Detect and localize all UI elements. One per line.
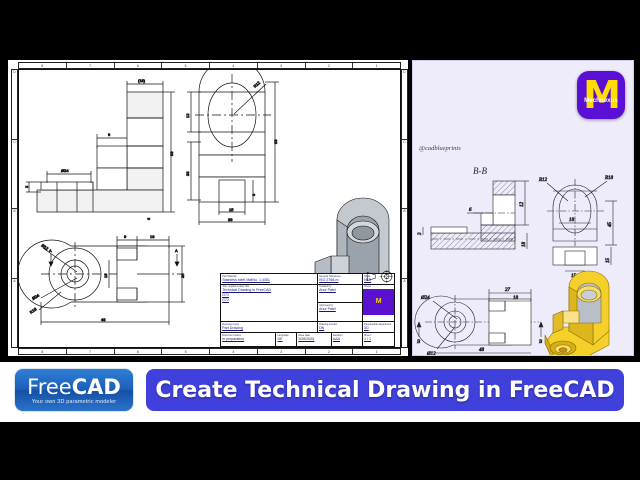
bp-dim-d12: Ø12 xyxy=(426,352,436,356)
tb-value: DN xyxy=(319,326,361,331)
ruler-cell: C xyxy=(12,140,17,210)
section-arrow-a-right: A xyxy=(175,248,178,253)
tb-value-line3: G72 xyxy=(222,298,316,303)
dim-15: 15 xyxy=(229,207,234,212)
sheet-ruler-left: D C B A xyxy=(11,69,18,348)
section-arrow-a-left: A xyxy=(49,248,52,253)
sheet-ruler-right: D C B A xyxy=(401,69,408,348)
ruler-cell: 5 xyxy=(162,349,210,354)
tb-value: 3D xyxy=(364,326,393,331)
dim-18-vert: 18 xyxy=(103,273,108,278)
ruler-cell: A xyxy=(402,279,407,348)
bp-dim-45: 45 xyxy=(608,222,613,228)
tb-created-by: Created by Anur Patel xyxy=(318,285,362,303)
blueprint-views: 6 12 3 18 xyxy=(413,61,634,356)
ruler-cell: C xyxy=(402,140,407,210)
tb-people: Created by Anur Patel Approved by Anur P… xyxy=(318,285,363,321)
dim-3: 3 xyxy=(24,185,29,188)
tb-row: Document status in preparation Language … xyxy=(221,333,394,346)
tb-doc-title: Title, supplementary title Technical Dra… xyxy=(221,285,318,321)
dim-63-left: 63 xyxy=(169,151,174,156)
ruler-cell: 4 xyxy=(210,63,258,68)
dim-9-top: 9 xyxy=(124,234,127,239)
freecad-tagline: Your own 3D parametric modeler xyxy=(32,399,117,405)
bp-dim-16: 18 xyxy=(522,242,527,248)
bp-view-front: R12 R18 18 45 15 xyxy=(538,176,617,279)
tb-general-tolerances: General Tolerances ISO 2768-m xyxy=(318,274,363,284)
bp-dim-15: 15 xyxy=(606,258,611,264)
ruler-cell: D xyxy=(402,70,407,140)
bp-dim-3: 3 xyxy=(418,232,423,235)
tb-value: AAA xyxy=(333,337,361,342)
dim-12-front: 12 xyxy=(185,113,190,118)
dim-r18: R18 xyxy=(29,306,39,315)
dim-36: 36 xyxy=(228,217,233,222)
sheet-ruler-bottom: 8 7 6 5 4 3 2 1 xyxy=(18,348,401,355)
freecad-word-cad: CAD xyxy=(72,375,121,399)
projection-symbol-icon xyxy=(366,270,396,283)
ruler-cell: B xyxy=(402,209,407,279)
tb-value: Anur Patel xyxy=(319,288,361,293)
bp-section-arrow-b-left: B xyxy=(417,340,420,345)
company-logo-small: M xyxy=(363,289,394,315)
freecad-wordmark: FreeCAD xyxy=(27,376,121,398)
tb-drawing-number: Drawing number DN xyxy=(318,322,363,332)
ruler-cell: 1 xyxy=(353,63,400,68)
view-top: Ø12 Ø24 R18 A A xyxy=(19,234,185,325)
bp-section-arrow-b-right: B xyxy=(539,340,542,345)
ruler-cell: D xyxy=(12,70,17,140)
view-front: R12 12 33 63 xyxy=(185,70,279,225)
bp-dim-r18: R18 xyxy=(604,176,614,181)
tb-value: Part Drawing xyxy=(222,326,316,331)
ruler-cell: B xyxy=(12,209,17,279)
bp-dim-r12: R12 xyxy=(538,178,548,183)
dim-63-front: 63 xyxy=(273,139,278,144)
title-block: Part Material Stainless steel MatNo. 1.4… xyxy=(220,273,395,347)
tb-document-type: Document type Part Drawing xyxy=(221,322,318,332)
ruler-cell: 2 xyxy=(306,63,354,68)
dim-36-top: 36 xyxy=(180,273,185,278)
bp-dim-12: 12 xyxy=(520,202,525,208)
ruler-cell: 6 xyxy=(115,63,163,68)
bp-dim-48: 48 xyxy=(479,348,485,353)
technical-drawing-sheet: 8 7 6 5 4 3 2 1 8 7 6 5 4 3 2 1 D C B A … xyxy=(8,60,408,356)
dim-48: 48 xyxy=(101,317,106,322)
dim-r12: R12 xyxy=(252,80,261,89)
tb-issue-date: Issue date 3/26/2025 xyxy=(297,333,332,346)
dim-33: 33 xyxy=(185,171,190,176)
tb-row: Document type Part Drawing Drawing numbe… xyxy=(221,322,394,333)
tb-value: in preparation xyxy=(222,337,274,342)
dim-6-top: 6 xyxy=(146,217,151,220)
ruler-cell: 8 xyxy=(19,63,67,68)
ruler-cell: 8 xyxy=(19,349,67,354)
tb-part-material: Part Material Stainless steel MatNo. 1.4… xyxy=(221,274,318,284)
tb-responsible-department: Responsible department 3D xyxy=(363,322,394,332)
blueprint-reference-panel: M Mechnexus @cadblueprints B-B xyxy=(412,60,634,356)
tb-revision: Revision AAA xyxy=(332,333,363,346)
ruler-cell: A xyxy=(12,279,17,348)
ruler-cell: 3 xyxy=(258,63,306,68)
tb-value: DE xyxy=(278,337,295,342)
tb-sheet: Sheet 1 / 1 xyxy=(363,333,394,346)
tb-row: Title, supplementary title Technical Dra… xyxy=(221,285,394,322)
ruler-cell: 5 xyxy=(162,63,210,68)
tb-approved-by: Approved by Anur Patel xyxy=(318,303,362,321)
sheet-ruler-top: 8 7 6 5 4 3 2 1 xyxy=(18,62,401,69)
view-section-bb: 6 12 3 18 xyxy=(418,181,529,249)
dim-18-top: 18 xyxy=(150,234,155,239)
bp-dim-d24: Ø24 xyxy=(420,296,430,301)
freecad-word-free: Free xyxy=(27,375,72,399)
tb-language: Language DE xyxy=(276,333,297,346)
dim-d24-top: Ø24 xyxy=(61,168,69,173)
bottom-banner: FreeCAD Your own 3D parametric modeler C… xyxy=(0,362,640,418)
bp-dim-18b: 18 xyxy=(513,296,519,301)
tb-value: Anur Patel xyxy=(319,307,361,312)
bp-dim-27: 27 xyxy=(505,288,511,293)
tb-value: Stainless steel MatNo. 1.4301 xyxy=(222,278,316,283)
freecad-logo: FreeCAD Your own 3D parametric modeler xyxy=(14,368,134,412)
ruler-cell: 4 xyxy=(210,349,258,354)
ruler-cell: 2 xyxy=(306,349,354,354)
bp-iso-3d-model xyxy=(545,271,609,356)
bp-dim-6: 6 xyxy=(469,208,472,213)
ruler-cell: 3 xyxy=(258,349,306,354)
ruler-cell: 7 xyxy=(67,349,115,354)
tb-document-status: Document status in preparation xyxy=(221,333,276,346)
view-section-aa: (18) 9 63 Ø24 xyxy=(24,78,175,220)
tb-value: ISO 2768-m xyxy=(319,278,361,283)
banner-title: Create Technical Drawing in FreeCAD xyxy=(146,369,624,411)
tb-value: 3/26/2025 xyxy=(298,337,329,342)
banner-bottom-strip xyxy=(0,418,640,422)
screenshot-root: 8 7 6 5 4 3 2 1 8 7 6 5 4 3 2 1 D C B A … xyxy=(0,0,640,480)
ruler-cell: 6 xyxy=(115,349,163,354)
dim-18-ref: (18) xyxy=(138,78,146,83)
bp-view-top: Ø24 Ø12 27 18 B B xyxy=(415,288,543,356)
tb-value: 1 / 1 xyxy=(364,337,393,342)
logo-letter: M xyxy=(376,298,381,306)
tb-owner: Owner M xyxy=(363,285,394,321)
dim-9: 9 xyxy=(108,132,111,137)
bp-dim-18: 18 xyxy=(569,218,575,223)
ruler-cell: 7 xyxy=(67,63,115,68)
ruler-cell: 1 xyxy=(353,349,400,354)
